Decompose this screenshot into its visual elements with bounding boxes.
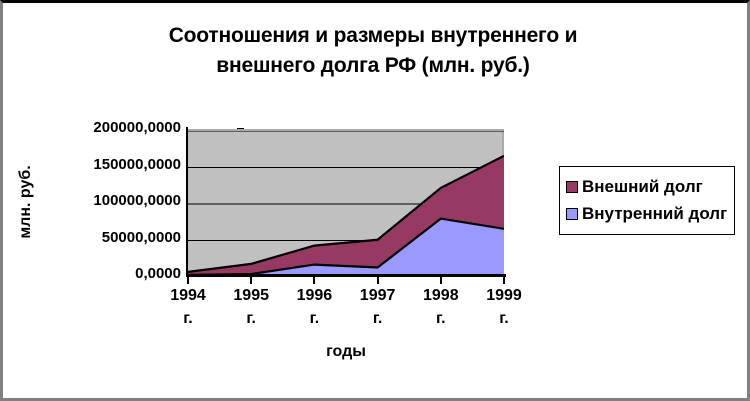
- x-axis-tick-suffix: г.: [473, 307, 535, 330]
- x-axis-tick-year: 1997: [347, 284, 409, 307]
- x-axis-tick-year: 1995: [220, 284, 282, 307]
- y-axis-tick-label: 0,0000: [63, 265, 181, 282]
- x-axis-tick-label: 1997г.: [347, 284, 409, 330]
- y-axis-tick-label: 200000,0000: [63, 119, 181, 136]
- x-axis-tick-year: 1996: [283, 284, 345, 307]
- y-axis-tick-labels: 0,000050000,0000100000,0000150000,000020…: [59, 3, 181, 398]
- y-axis-tick-label: 150000,0000: [63, 156, 181, 173]
- legend-swatch-icon: [566, 208, 578, 220]
- y-axis-tick-label: 50000,0000: [63, 229, 181, 246]
- x-axis-tick-mark: [503, 277, 505, 284]
- x-axis-tick-year: 1998: [410, 284, 472, 307]
- chart-window: Соотношения и размеры внутреннего и внеш…: [0, 0, 750, 401]
- legend-item[interactable]: Внутренний долг: [566, 200, 727, 227]
- x-axis-tick-mark: [187, 277, 189, 284]
- x-axis-tick-suffix: г.: [410, 307, 472, 330]
- x-axis-tick-mark: [250, 277, 252, 284]
- x-axis-tick-year: 1994: [157, 284, 219, 307]
- legend-item-label: Внешний долг: [582, 177, 703, 197]
- y-axis-line: [186, 127, 188, 277]
- x-axis-tick-mark: [313, 277, 315, 284]
- x-axis-tick-labels: 1994г.1995г.1996г.1997г.1998г.1999г.: [188, 284, 504, 344]
- x-axis-tick-label: 1995г.: [220, 284, 282, 330]
- legend-item-label: Внутренний долг: [582, 204, 727, 224]
- legend-item[interactable]: Внешний долг: [566, 173, 727, 200]
- plot-area: [188, 129, 504, 275]
- x-axis-tick-suffix: г.: [157, 307, 219, 330]
- y-axis-title: млн. руб.: [17, 137, 37, 267]
- x-axis-tick-year: 1999: [473, 284, 535, 307]
- x-axis-tick-label: 1999г.: [473, 284, 535, 330]
- x-axis-tick-label: 1996г.: [283, 284, 345, 330]
- stacked-area-plot: [188, 131, 504, 277]
- chart-canvas: Соотношения и размеры внутреннего и внеш…: [3, 3, 747, 398]
- x-axis-line: [186, 274, 506, 277]
- x-axis-tick-suffix: г.: [283, 307, 345, 330]
- x-axis-tick-mark: [440, 277, 442, 284]
- x-axis-title: годы: [188, 343, 504, 361]
- y-axis-tick-label: 100000,0000: [63, 192, 181, 209]
- chart-legend: Внешний долгВнутренний долг: [559, 166, 735, 235]
- legend-swatch-icon: [566, 181, 578, 193]
- x-axis-tick-suffix: г.: [220, 307, 282, 330]
- x-axis-tick-label: 1994г.: [157, 284, 219, 330]
- x-axis-tick-suffix: г.: [347, 307, 409, 330]
- x-axis-tick-label: 1998г.: [410, 284, 472, 330]
- x-axis-tick-mark: [377, 277, 379, 284]
